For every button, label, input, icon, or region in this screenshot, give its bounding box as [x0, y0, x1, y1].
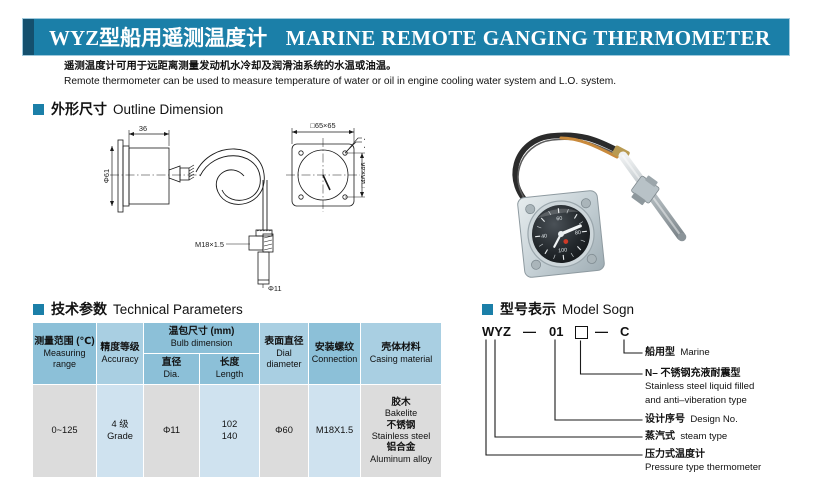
td-casing-material: 胶木 Bakelite 不锈钢 Stainless steel 铝合金 Alum… — [361, 385, 442, 478]
svg-text:80: 80 — [575, 230, 582, 237]
product-photo: 60 80 100 40 — [495, 124, 725, 290]
td-bulb-length: 102 140 — [200, 385, 260, 478]
dim-flange-label: □65×65 — [310, 121, 335, 130]
dim-dial-dia-label: Φ61 — [102, 169, 111, 183]
dim-thread-holes-label: 4-M4 — [364, 142, 365, 151]
td-dial-diameter: Φ60 — [260, 385, 309, 478]
title-chinese: WYZ型船用遥测温度计 — [49, 26, 267, 50]
square-bullet-icon — [482, 304, 493, 315]
intro-chinese: 遥测温度计可用于远距离测量发动机水冷却及润滑油系统的水温或油温。 — [64, 59, 784, 74]
td-accuracy: 4 级 Grade — [97, 385, 144, 478]
title-bar-end-cap — [23, 19, 34, 55]
model-label-design-no: 设计序号 Design No. — [645, 413, 738, 426]
th-measuring-range: 测量范围 (℃) Measuring range — [33, 323, 97, 385]
outline-heading-chinese: 外形尺寸 — [51, 99, 107, 119]
section-heading-technical-parameters: 技术参数 Technical Parameters — [33, 299, 243, 319]
svg-text:100: 100 — [558, 247, 568, 254]
model-label-steam: 蒸汽式 steam type — [645, 430, 727, 443]
th-connection: 安装螺纹 Connection — [309, 323, 361, 385]
th-bulb-dia: 直径 Dia. — [144, 354, 200, 385]
intro-paragraph: 遥测温度计可用于远距离测量发动机水冷却及润滑油系统的水温或油温。 Remote … — [64, 59, 784, 89]
dim-width-label: 36 — [139, 124, 147, 133]
page-title: WYZ型船用遥测温度计 MARINE REMOTE GANGING THERMO… — [49, 22, 771, 52]
table-row: 0~125 4 级 Grade Φ11 102 140 Φ60 M18X1.5 … — [33, 385, 442, 478]
model-heading-english: Model Sogn — [562, 302, 634, 317]
product-title-bar: WYZ型船用遥测温度计 MARINE REMOTE GANGING THERMO… — [22, 18, 790, 56]
dim-hole-pitch-label: □46×46 — [359, 162, 365, 187]
square-bullet-icon — [33, 304, 44, 315]
dim-bulb-dia-label: Φ11 — [268, 284, 282, 293]
outline-heading-english: Outline Dimension — [113, 102, 223, 117]
table-header-row-1: 测量范围 (℃) Measuring range 精度等级 Accuracy 温… — [33, 323, 442, 354]
th-casing-material: 壳体材料 Casing material — [361, 323, 442, 385]
technical-heading-chinese: 技术参数 — [51, 299, 107, 319]
title-english: MARINE REMOTE GANGING THERMOMETER — [286, 26, 771, 50]
technical-parameters-table: 测量范围 (℃) Measuring range 精度等级 Accuracy 温… — [32, 322, 442, 478]
th-bulb-length: 长度 Length — [200, 354, 260, 385]
model-designation-diagram: WYZ — 01 — C 船用型 Marine — [482, 320, 822, 500]
outline-dimension-drawing: 36 Φ61 □65×65 4-Φ4.5 4-M4 □46×46 M18×1.5… — [100, 118, 365, 293]
square-bullet-icon — [33, 104, 44, 115]
technical-heading-english: Technical Parameters — [113, 302, 243, 317]
intro-english: Remote thermometer can be used to measur… — [64, 74, 784, 89]
model-label-pressure: 压力式温度计 Pressure type thermometer — [645, 448, 761, 475]
svg-text:40: 40 — [541, 233, 548, 240]
th-dial-diameter: 表面直径 Dial diameter — [260, 323, 309, 385]
model-label-marine: 船用型 Marine — [645, 346, 710, 359]
th-bulb-dimension: 温包尺寸 (mm) Bulb dimension — [144, 323, 260, 354]
td-measuring-range: 0~125 — [33, 385, 97, 478]
model-label-stainless: N– 不锈钢充液耐震型 Stainless steel liquid fille… — [645, 367, 754, 407]
td-connection: M18X1.5 — [309, 385, 361, 478]
svg-text:60: 60 — [556, 216, 563, 223]
section-heading-model-sign: 型号表示 Model Sogn — [482, 299, 634, 319]
model-heading-chinese: 型号表示 — [500, 299, 556, 319]
datasheet-page: WYZ型船用遥测温度计 MARINE REMOTE GANGING THERMO… — [0, 0, 830, 504]
td-bulb-dia: Φ11 — [144, 385, 200, 478]
th-accuracy: 精度等级 Accuracy — [97, 323, 144, 385]
section-heading-outline-dimension: 外形尺寸 Outline Dimension — [33, 99, 223, 119]
dim-connection-label: M18×1.5 — [195, 240, 224, 249]
